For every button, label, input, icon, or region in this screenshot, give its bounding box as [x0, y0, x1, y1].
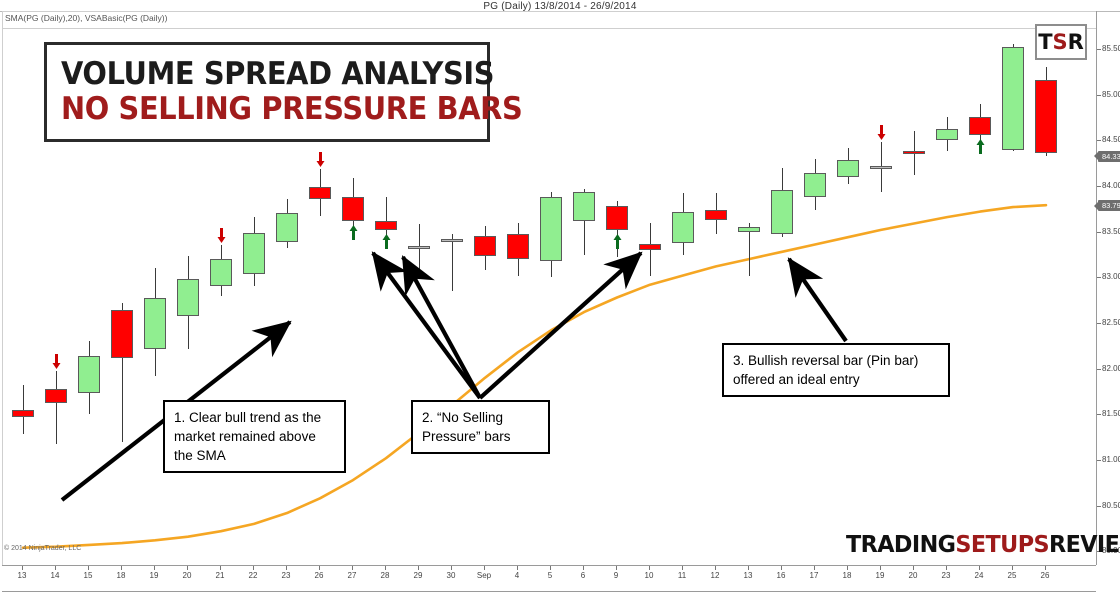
candle-body-19[interactable] [144, 298, 166, 349]
callout-2: 2. “No Selling Pressure” bars [411, 400, 550, 454]
candle-body-12[interactable] [705, 210, 727, 220]
headline-box: VOLUME SPREAD ANALYSIS NO SELLING PRESSU… [44, 42, 490, 142]
candle-body-21[interactable] [210, 259, 232, 286]
candle-body-11[interactable] [672, 212, 694, 243]
candle-body-19[interactable] [870, 166, 892, 169]
headline-line-2: NO SELLING PRESSURE BARS [61, 92, 444, 127]
tsr-logo: TSR [1035, 24, 1087, 60]
price-tick: 83.50 [1097, 232, 1120, 233]
logo-letter-t: T [1038, 30, 1052, 54]
candle-body-10[interactable] [639, 244, 661, 249]
candle-body-5[interactable] [540, 197, 562, 261]
price-tick: 81.50 [1097, 414, 1120, 415]
candle-body-16[interactable] [771, 190, 793, 234]
vsa-down-arrow-icon [52, 354, 61, 369]
date-axis[interactable]: 1314151819202122232627282930Sep456910111… [2, 565, 1096, 592]
watermark-part-trading: TRADING [846, 532, 955, 558]
logo-letter-r: R [1068, 30, 1084, 54]
chart-screenshot: PG (Daily) 13/8/2014 - 26/9/2014 SMA(PG … [0, 0, 1120, 592]
price-tick: 82.00 [1097, 369, 1120, 370]
price-tick: 85.50 [1097, 49, 1120, 50]
price-marker-label: 84.33 [1098, 151, 1120, 162]
candle-body-30[interactable] [441, 239, 463, 242]
candle-body-13[interactable] [738, 227, 760, 232]
vsa-up-arrow-icon [349, 225, 358, 240]
candle-body-23[interactable] [276, 213, 298, 241]
vsa-up-arrow-icon [382, 234, 391, 249]
vsa-up-arrow-icon [613, 234, 622, 249]
candle-body-28[interactable] [375, 221, 397, 230]
watermark-part-setups: SETUPS [955, 532, 1049, 558]
price-tick: 82.50 [1097, 323, 1120, 324]
candle-body-14[interactable] [45, 389, 67, 404]
watermark-part-review: REVIEW.COM [1049, 532, 1120, 558]
price-tick: 81.00 [1097, 460, 1120, 461]
price-axis[interactable]: 80.0080.5081.0081.5082.0082.5083.0083.50… [1096, 11, 1120, 565]
site-watermark: TRADINGSETUPSREVIEW.COM [846, 532, 1120, 558]
candle-body-17[interactable] [804, 173, 826, 197]
candle-body-15[interactable] [78, 356, 100, 393]
logo-letter-s: S [1053, 30, 1068, 54]
candle-body-20[interactable] [903, 151, 925, 154]
candle-body-25[interactable] [1002, 47, 1024, 149]
candle-body-22[interactable] [243, 233, 265, 274]
callout-1: 1. Clear bull trend as the market remain… [163, 400, 346, 473]
candle-body-26[interactable] [1035, 80, 1057, 153]
callout-3: 3. Bullish reversal bar (Pin bar) offere… [722, 343, 950, 397]
candle-body-23[interactable] [936, 129, 958, 140]
vsa-up-arrow-icon [976, 139, 985, 154]
copyright-notice: © 2014 NinjaTrader, LLC [4, 545, 81, 552]
price-tick: 84.00 [1097, 186, 1120, 187]
price-tick: 85.00 [1097, 95, 1120, 96]
candle-body-6[interactable] [573, 192, 595, 220]
vsa-down-arrow-icon [217, 228, 226, 243]
candle-body-18[interactable] [837, 160, 859, 176]
candle-body-13[interactable] [12, 410, 34, 417]
candle-body-9[interactable] [606, 206, 628, 230]
candle-wick [419, 224, 420, 274]
price-tick: 84.50 [1097, 140, 1120, 141]
vsa-down-arrow-icon [877, 125, 886, 140]
price-tick: 80.50 [1097, 506, 1120, 507]
candle-body-29[interactable] [408, 246, 430, 249]
candle-body-27[interactable] [342, 197, 364, 221]
vsa-down-arrow-icon [316, 152, 325, 167]
candle-body-18[interactable] [111, 310, 133, 357]
candle-wick [56, 371, 57, 443]
candle-body-Sep[interactable] [474, 236, 496, 256]
candle-body-20[interactable] [177, 279, 199, 316]
candle-body-24[interactable] [969, 117, 991, 135]
price-tick: 83.00 [1097, 277, 1120, 278]
candle-wick [452, 234, 453, 292]
headline-line-1: VOLUME SPREAD ANALYSIS [61, 57, 444, 92]
price-marker-label: 83.79 [1098, 200, 1120, 211]
candle-body-4[interactable] [507, 234, 529, 259]
candle-body-26[interactable] [309, 187, 331, 199]
indicator-label: SMA(PG (Daily),20), VSABasic(PG (Daily)) [5, 13, 167, 23]
